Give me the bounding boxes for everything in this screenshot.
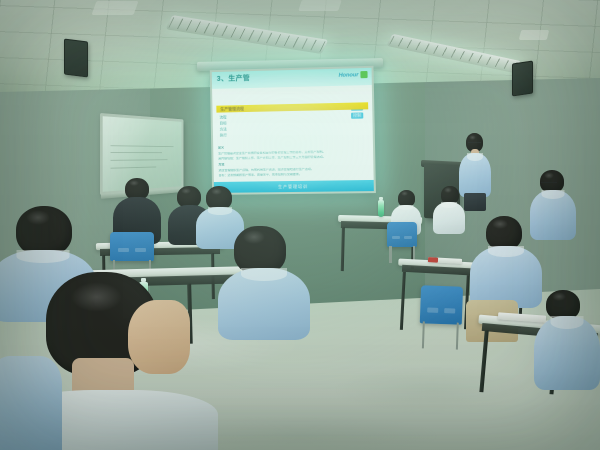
attendee-far-left-blue xyxy=(0,356,62,450)
slide-bullet-list: 流程 目标 方法 执行 xyxy=(219,116,226,138)
chair xyxy=(419,285,463,348)
slide-footer-text: 生产管理培训 xyxy=(278,183,308,189)
attendee-mid-right xyxy=(470,216,542,308)
slide-highlight-text: 生产管理流程 xyxy=(216,106,244,113)
presentation-slide: 3、生产管 Honour 管理 控制 生产管理流程 流程 目标 方法 xyxy=(212,68,374,193)
water-bottle xyxy=(378,200,384,217)
speaker-icon xyxy=(64,39,88,78)
paragraph-line: 目标：达到预期的生产效率、质量水平、成本控制与交期要求。 xyxy=(219,172,369,177)
slide-title: 3、生产管 xyxy=(217,73,251,84)
attendee-woman-blue xyxy=(218,226,310,340)
paragraph-line: 生产管理是对企业生产系统的设置和运行的各项管理工作的总称，又称生产控制。 xyxy=(218,149,368,155)
classroom-photo: 3、生产管 Honour 管理 控制 生产管理流程 流程 目标 方法 xyxy=(0,0,600,450)
paragraph-line: 通过合理组织生产过程，有效利用生产资源，经济合理地进行生产活动。 xyxy=(219,166,369,172)
attendee-back-right xyxy=(432,186,466,234)
ceiling-vent-panel xyxy=(298,0,342,11)
ceiling-vent-panel xyxy=(519,30,549,40)
projection-screen: 3、生产管 Honour 管理 控制 生产管理流程 流程 目标 方法 xyxy=(210,66,376,195)
paragraph-tag: 方法 xyxy=(218,161,368,167)
attendee-front-left-arm xyxy=(128,300,190,374)
slide-paragraphs: 定义 生产管理是对企业生产系统的设置和运行的各项管理工作的总称，又称生产控制。 … xyxy=(218,144,368,178)
slide-highlight-bar: 生产管理流程 xyxy=(216,102,368,112)
list-item: 执行 xyxy=(220,135,227,139)
slide-logo-text: Honour xyxy=(339,72,359,79)
green-square-icon xyxy=(360,71,367,78)
legs xyxy=(464,193,486,211)
ceiling-vent-panel xyxy=(91,1,138,15)
speaker-icon xyxy=(512,61,533,97)
glasses-icon xyxy=(468,142,481,146)
list-item: 流程 xyxy=(219,116,226,120)
slide-body: 管理 控制 生产管理流程 流程 目标 方法 执行 定义 生产管理是对企业生产系统… xyxy=(212,85,374,182)
chair xyxy=(387,222,417,262)
slide-logo: Honour xyxy=(339,71,368,79)
list-item: 目标 xyxy=(220,122,227,126)
attendee-front-right xyxy=(534,290,600,390)
slide-badge: 控制 xyxy=(351,112,363,118)
paragraph-line: 其内容包括：生产组织工作、生产计划工作、生产控制工作三大方面的管理活动。 xyxy=(218,155,368,161)
list-item: 方法 xyxy=(220,128,227,132)
